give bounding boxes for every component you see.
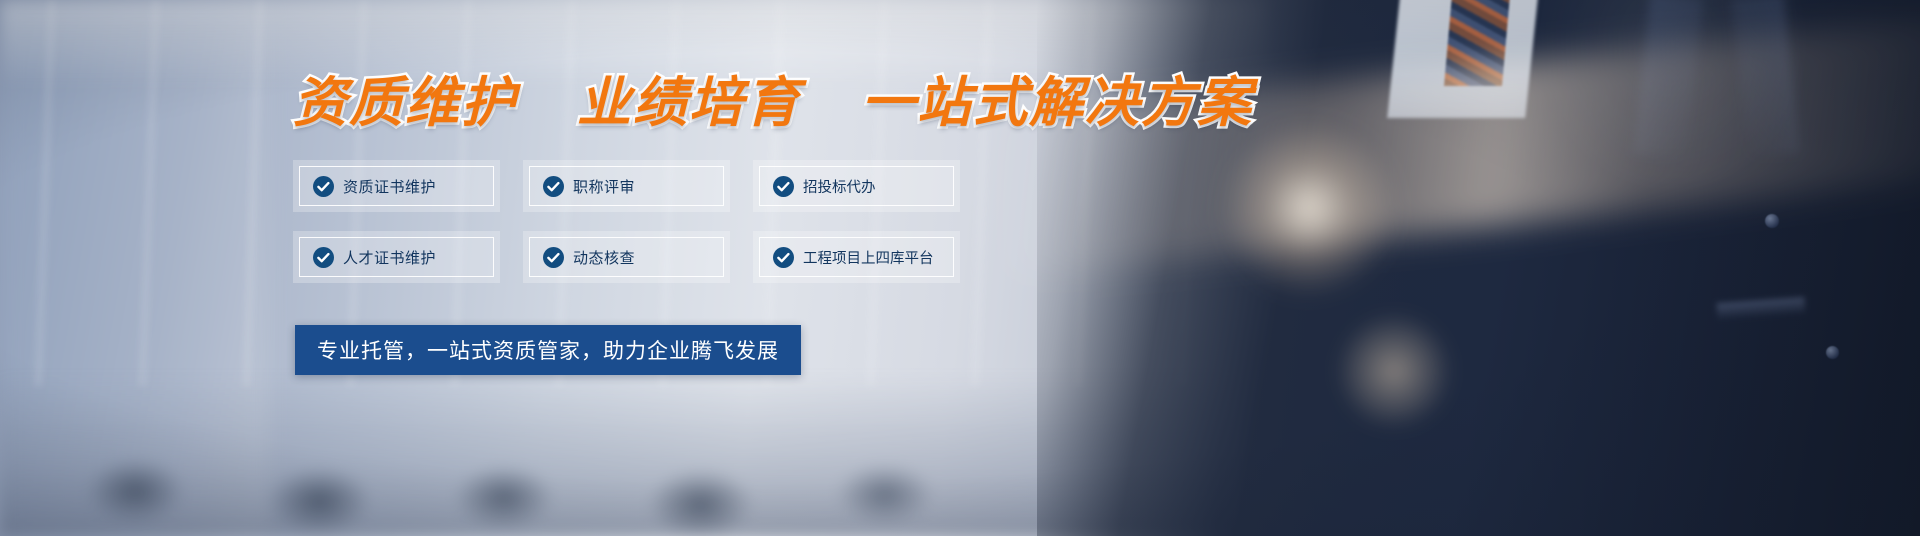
headline: 资质维护 业绩培育 一站式解决方案 bbox=[293, 76, 1253, 130]
promo-banner: 资质维护 业绩培育 一站式解决方案 资质证书维护 bbox=[0, 0, 1920, 536]
feature-inner-frame: 工程项目上四库平台 bbox=[759, 237, 954, 277]
feature-inner-frame: 动态核查 bbox=[529, 237, 724, 277]
feature-inner-frame: 人才证书维护 bbox=[299, 237, 494, 277]
feature-list: 资质证书维护 职称评审 bbox=[293, 160, 960, 283]
headline-part-3: 一站式解决方案 bbox=[861, 73, 1253, 133]
feature-label: 动态核查 bbox=[573, 247, 635, 268]
feature-label: 职称评审 bbox=[573, 176, 635, 197]
feature-item-title-review[interactable]: 职称评审 bbox=[523, 160, 730, 212]
check-circle-icon bbox=[773, 176, 794, 197]
tagline-bar: 专业托管，一站式资质管家，助力企业腾飞发展 bbox=[295, 325, 801, 375]
feature-label: 人才证书维护 bbox=[343, 247, 436, 268]
banner-content: 资质维护 业绩培育 一站式解决方案 资质证书维护 bbox=[0, 0, 1920, 536]
feature-inner-frame: 职称评审 bbox=[529, 166, 724, 206]
check-circle-icon bbox=[313, 247, 334, 268]
feature-item-four-database-platform[interactable]: 工程项目上四库平台 bbox=[753, 231, 960, 283]
feature-label: 招投标代办 bbox=[803, 176, 876, 197]
feature-inner-frame: 资质证书维护 bbox=[299, 166, 494, 206]
feature-item-qualification-certificate[interactable]: 资质证书维护 bbox=[293, 160, 500, 212]
feature-label: 工程项目上四库平台 bbox=[803, 247, 934, 268]
feature-item-bidding-agency[interactable]: 招投标代办 bbox=[753, 160, 960, 212]
check-circle-icon bbox=[773, 247, 794, 268]
feature-item-dynamic-inspection[interactable]: 动态核查 bbox=[523, 231, 730, 283]
check-circle-icon bbox=[313, 176, 334, 197]
headline-part-1: 资质维护 bbox=[293, 73, 517, 133]
feature-item-talent-certificate[interactable]: 人才证书维护 bbox=[293, 231, 500, 283]
feature-inner-frame: 招投标代办 bbox=[759, 166, 954, 206]
headline-part-2: 业绩培育 bbox=[577, 73, 801, 133]
check-circle-icon bbox=[543, 247, 564, 268]
feature-label: 资质证书维护 bbox=[343, 176, 436, 197]
check-circle-icon bbox=[543, 176, 564, 197]
